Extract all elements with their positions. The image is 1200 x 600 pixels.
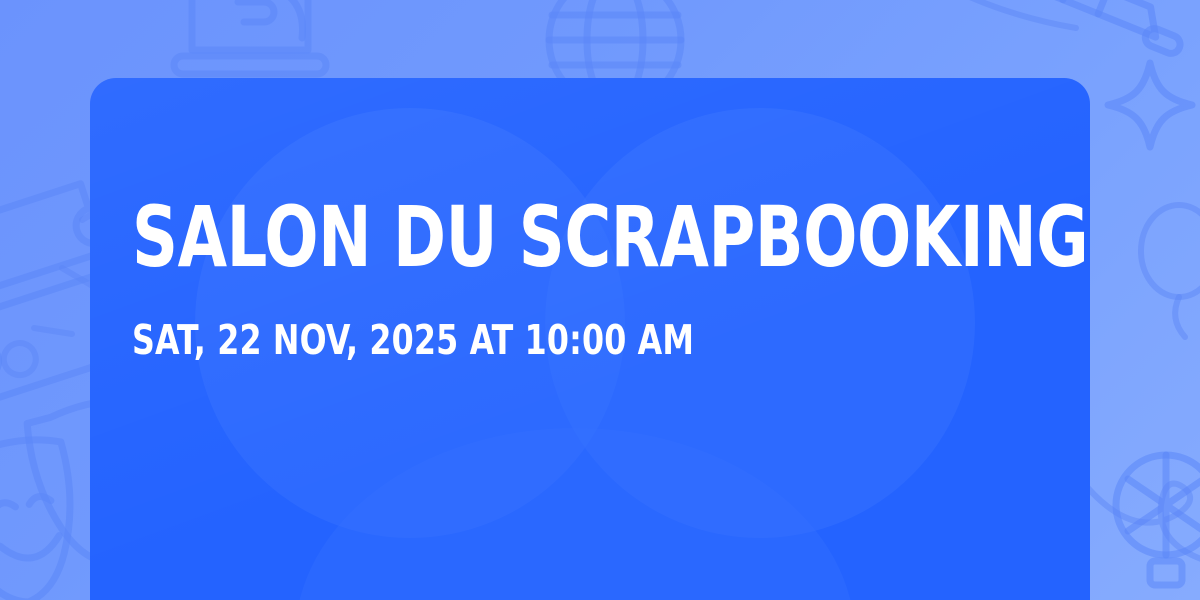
event-title: SALON DU SCRAPBOOKING bbox=[132, 198, 908, 277]
streamer-icon bbox=[940, 0, 1130, 70]
lantern-icon bbox=[1110, 445, 1200, 600]
palette-icon bbox=[1000, 0, 1200, 85]
event-card[interactable]: SALON DU SCRAPBOOKING SAT, 22 NOV, 2025 … bbox=[90, 78, 1090, 600]
event-datetime: SAT, 22 NOV, 2025 AT 10:00 AM bbox=[132, 320, 921, 361]
laptop-icon bbox=[160, 0, 340, 90]
event-banner: SALON DU SCRAPBOOKING SAT, 22 NOV, 2025 … bbox=[0, 0, 1200, 600]
map-pin-icon bbox=[612, 0, 672, 28]
balloon-icon bbox=[1135, 205, 1200, 355]
sparkle-icon bbox=[1100, 55, 1200, 155]
event-text-block: SALON DU SCRAPBOOKING SAT, 22 NOV, 2025 … bbox=[132, 198, 1050, 361]
swirl-icon bbox=[1085, 465, 1200, 600]
